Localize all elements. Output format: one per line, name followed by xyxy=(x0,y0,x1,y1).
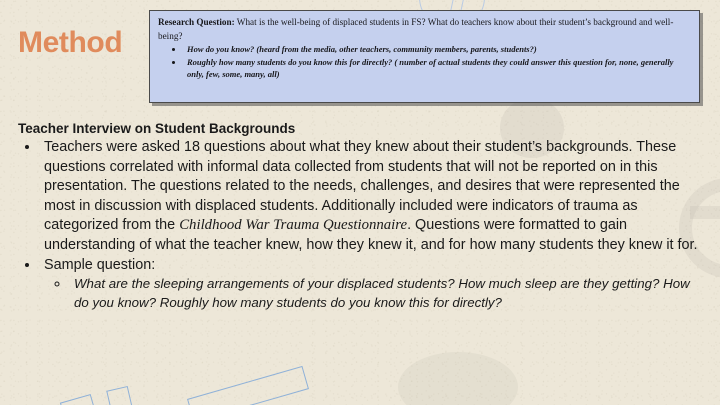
sample-question-list: What are the sleeping arrangements of yo… xyxy=(44,275,708,312)
research-question-box: Research Question: What is the well-bein… xyxy=(149,10,700,103)
body-bullet-list: Teachers were asked 18 questions about w… xyxy=(18,138,708,312)
slide-title: Method xyxy=(18,26,122,60)
decorative-rectangle-outline-tiny xyxy=(60,394,96,405)
cited-work-title: Childhood War Trauma Questionnaire xyxy=(179,217,407,233)
slide-body: Teacher Interview on Student Backgrounds… xyxy=(18,120,708,312)
sample-question-label: Sample question: xyxy=(44,257,155,273)
decorative-rectangle-outline-small xyxy=(106,386,136,405)
list-item: What are the sleeping arrangements of yo… xyxy=(70,275,708,312)
list-item: Roughly how many students do you know th… xyxy=(184,57,691,81)
decorative-rectangle-outline-long xyxy=(187,366,309,405)
list-item: Sample question: What are the sleeping a… xyxy=(40,256,708,312)
research-question-text: What is the well-being of displaced stud… xyxy=(158,17,673,41)
decorative-blob-shape-lower xyxy=(398,352,518,405)
list-item: Teachers were asked 18 questions about w… xyxy=(40,138,708,256)
research-question-subquestion-list: How do you know? (heard from the media, … xyxy=(158,44,691,80)
slide-canvas: Method Research Question: What is the we… xyxy=(0,0,720,405)
list-item: How do you know? (heard from the media, … xyxy=(184,44,691,56)
research-question-statement: Research Question: What is the well-bein… xyxy=(158,16,691,43)
body-heading: Teacher Interview on Student Backgrounds xyxy=(18,120,708,137)
research-question-label: Research Question: xyxy=(158,17,235,27)
